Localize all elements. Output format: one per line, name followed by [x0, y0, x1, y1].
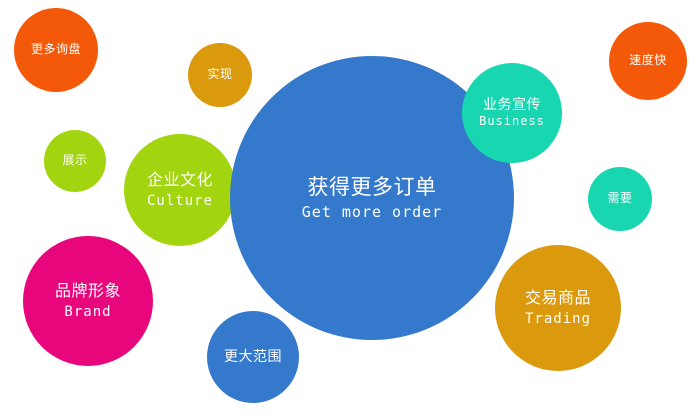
- bubble-label-en: Trading: [525, 311, 591, 327]
- bubble-wider-range[interactable]: 更大范围: [207, 311, 299, 403]
- bubble-label-en: Business: [479, 115, 545, 129]
- bubble-label-en: Get more order: [302, 204, 442, 221]
- bubble-label-cn: 企业文化: [147, 171, 213, 189]
- bubble-label-cn: 获得更多订单: [308, 175, 437, 199]
- bubble-more-inquiries[interactable]: 更多询盘: [14, 8, 98, 92]
- bubble-fast-speed[interactable]: 速度快: [609, 22, 687, 100]
- bubble-label-cn: 需要: [607, 192, 632, 206]
- bubble-label-cn: 更大范围: [224, 349, 282, 365]
- bubble-label-cn: 业务宣传: [483, 97, 541, 113]
- bubble-label-cn: 速度快: [629, 54, 667, 68]
- bubble-chart-canvas: 更多询盘实现展示企业文化Culture品牌形象Brand更大范围获得更多订单Ge…: [0, 0, 700, 416]
- bubble-label-cn: 实现: [207, 68, 232, 82]
- bubble-business[interactable]: 业务宣传Business: [462, 63, 562, 163]
- bubble-label-en: Brand: [64, 304, 111, 320]
- bubble-culture[interactable]: 企业文化Culture: [124, 134, 236, 246]
- bubble-label-en: Culture: [147, 193, 213, 209]
- bubble-label-cn: 交易商品: [525, 289, 591, 307]
- bubble-need[interactable]: 需要: [588, 167, 652, 231]
- bubble-trading[interactable]: 交易商品Trading: [495, 245, 621, 371]
- bubble-display[interactable]: 展示: [44, 130, 106, 192]
- bubble-realize[interactable]: 实现: [188, 43, 252, 107]
- bubble-label-cn: 展示: [62, 154, 87, 168]
- bubble-label-cn: 更多询盘: [31, 43, 81, 57]
- bubble-label-cn: 品牌形象: [55, 282, 121, 300]
- bubble-brand[interactable]: 品牌形象Brand: [23, 236, 153, 366]
